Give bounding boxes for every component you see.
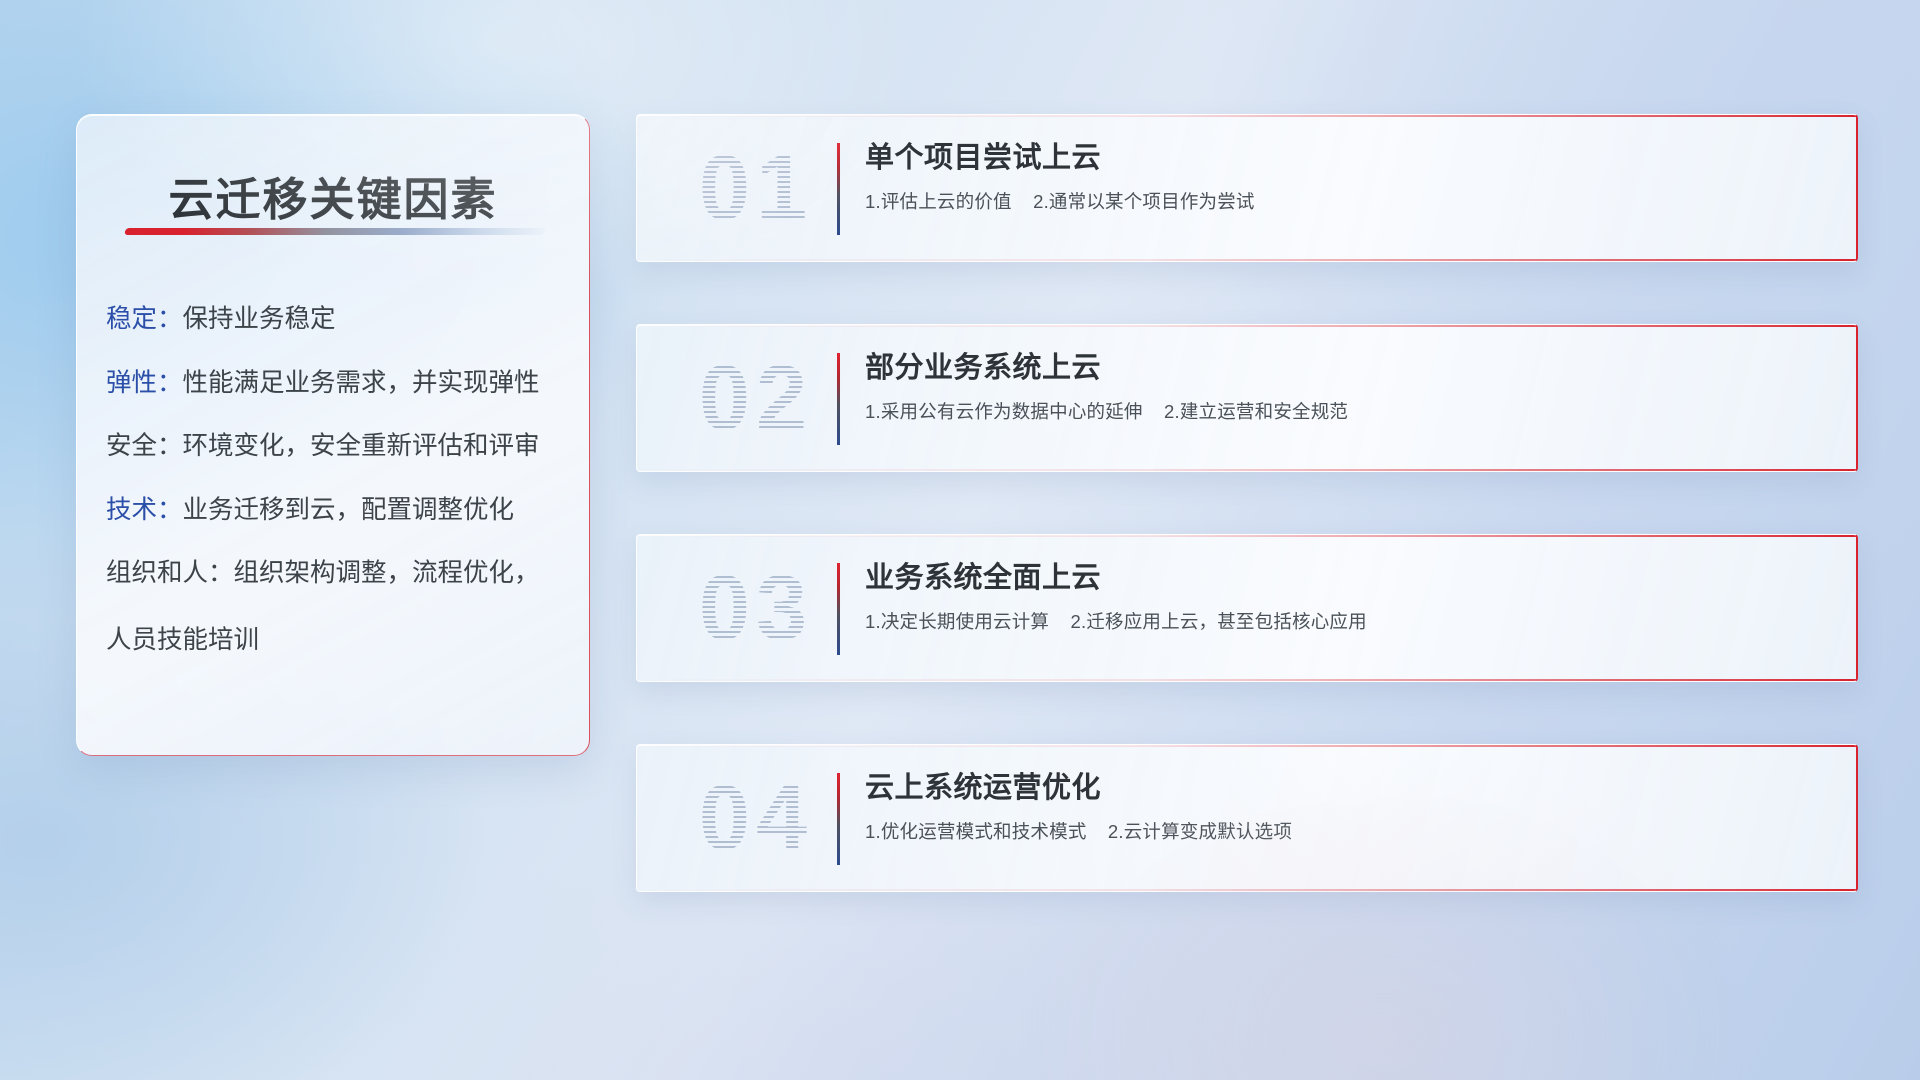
step-title: 单个项目尝试上云 bbox=[865, 142, 1834, 175]
factor-text: 保持业务稳定 bbox=[183, 305, 336, 333]
step-card-04[interactable]: 04 云上系统运营优化 1.优化运营模式和技术模式 2.云计算变成默认选项 bbox=[636, 744, 1858, 892]
slide-canvas: 云迁移关键因素 稳定：保持业务稳定 弹性：性能满足业务需求，并实现弹性 安全：环… bbox=[0, 0, 1920, 1080]
list-item: 弹性：性能满足业务需求，并实现弹性 bbox=[106, 371, 571, 397]
step-number-03: 03 bbox=[661, 556, 851, 660]
card-top-edge bbox=[637, 535, 1856, 537]
card-top-edge bbox=[637, 115, 1856, 117]
factor-text: 组织架构调整，流程优化， bbox=[234, 559, 540, 587]
factor-label: 组织和人： bbox=[106, 559, 234, 587]
step-title: 云上系统运营优化 bbox=[865, 772, 1834, 805]
factor-text: 环境变化，安全重新评估和评审 bbox=[183, 432, 540, 460]
card-bottom-edge bbox=[637, 679, 1856, 681]
key-factors-list: 稳定：保持业务稳定 弹性：性能满足业务需求，并实现弹性 安全：环境变化，安全重新… bbox=[106, 307, 571, 656]
step-number-04: 04 bbox=[661, 766, 851, 870]
step-title: 部分业务系统上云 bbox=[865, 352, 1834, 385]
step-description: 1.采用公有云作为数据中心的延伸 2.建立运营和安全规范 bbox=[865, 401, 1834, 423]
migration-steps-list: 01 单个项目尝试上云 1.评估上云的价值 2.通常以某个项目作为尝试 02 部… bbox=[636, 114, 1858, 892]
step-divider-bar bbox=[837, 773, 840, 865]
list-item: 技术：业务迁移到云，配置调整优化 bbox=[106, 498, 571, 524]
card-top-edge bbox=[637, 745, 1856, 747]
step-description: 1.决定长期使用云计算 2.迁移应用上云，甚至包括核心应用 bbox=[865, 611, 1834, 633]
step-divider-bar bbox=[837, 563, 840, 655]
step-divider-bar bbox=[837, 353, 840, 445]
list-item: 组织和人：组织架构调整，流程优化， bbox=[106, 561, 571, 587]
step-card-01[interactable]: 01 单个项目尝试上云 1.评估上云的价值 2.通常以某个项目作为尝试 bbox=[636, 114, 1858, 262]
card-bottom-edge bbox=[637, 889, 1856, 891]
step-number-02: 02 bbox=[661, 346, 851, 450]
factor-label: 技术： bbox=[106, 496, 183, 524]
step-body: 部分业务系统上云 1.采用公有云作为数据中心的延伸 2.建立运营和安全规范 bbox=[865, 352, 1834, 424]
step-description: 1.评估上云的价值 2.通常以某个项目作为尝试 bbox=[865, 191, 1834, 213]
list-item: 安全：环境变化，安全重新评估和评审 bbox=[106, 434, 571, 460]
card-top-edge bbox=[637, 325, 1856, 327]
step-number-01: 01 bbox=[661, 136, 851, 240]
factor-label: 稳定： bbox=[106, 305, 183, 333]
step-body: 业务系统全面上云 1.决定长期使用云计算 2.迁移应用上云，甚至包括核心应用 bbox=[865, 562, 1834, 634]
step-body: 单个项目尝试上云 1.评估上云的价值 2.通常以某个项目作为尝试 bbox=[865, 142, 1834, 214]
factor-text: 性能满足业务需求，并实现弹性 bbox=[183, 369, 540, 397]
factor-label: 弹性： bbox=[106, 369, 183, 397]
factor-label: 安全： bbox=[106, 432, 183, 460]
step-divider-bar bbox=[837, 143, 840, 235]
card-bottom-edge bbox=[637, 259, 1856, 261]
step-body: 云上系统运营优化 1.优化运营模式和技术模式 2.云计算变成默认选项 bbox=[865, 772, 1834, 844]
list-item: 稳定：保持业务稳定 bbox=[106, 307, 571, 333]
factor-text-continuation: 人员技能培训 bbox=[106, 619, 571, 656]
step-title: 业务系统全面上云 bbox=[865, 562, 1834, 595]
key-factors-card: 云迁移关键因素 稳定：保持业务稳定 弹性：性能满足业务需求，并实现弹性 安全：环… bbox=[76, 114, 590, 756]
title-underline-gradient bbox=[124, 228, 546, 235]
factor-text: 业务迁移到云，配置调整优化 bbox=[183, 496, 515, 524]
page-title: 云迁移关键因素 bbox=[77, 163, 589, 228]
step-card-02[interactable]: 02 部分业务系统上云 1.采用公有云作为数据中心的延伸 2.建立运营和安全规范 bbox=[636, 324, 1858, 472]
step-card-03[interactable]: 03 业务系统全面上云 1.决定长期使用云计算 2.迁移应用上云，甚至包括核心应… bbox=[636, 534, 1858, 682]
card-bottom-edge bbox=[637, 469, 1856, 471]
step-description: 1.优化运营模式和技术模式 2.云计算变成默认选项 bbox=[865, 821, 1834, 843]
